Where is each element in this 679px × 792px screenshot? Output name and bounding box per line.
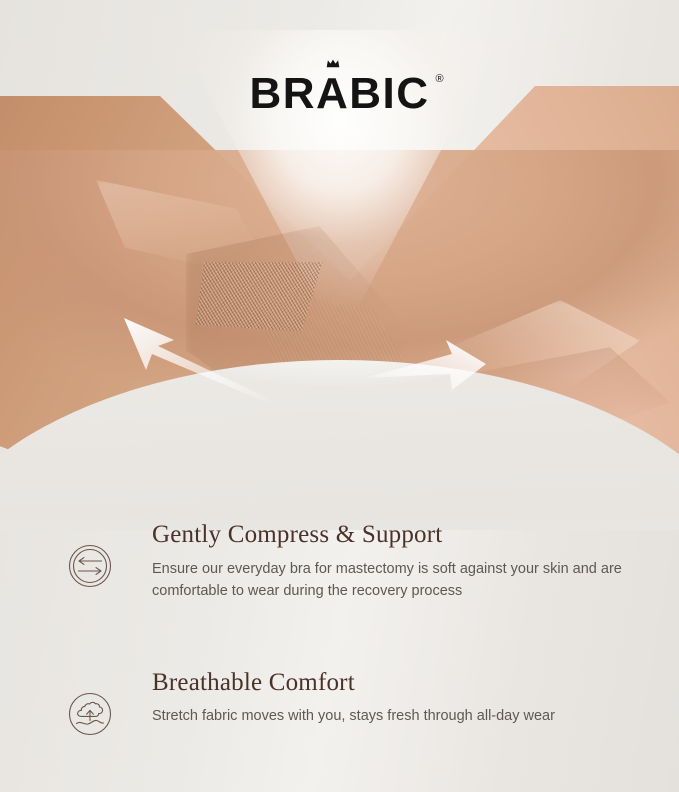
product-feature-image: BRA BIC® Gently Compress & Support Ensur… <box>0 0 679 792</box>
brand-name-after: BIC <box>349 69 429 118</box>
feature-item-compression: Gently Compress & Support Ensure our eve… <box>0 520 679 602</box>
feature-description-compression: Ensure our everyday bra for mastectomy i… <box>152 558 622 602</box>
brand-logo-text: BRA BIC® <box>249 72 429 116</box>
feature-text-breathable: Breathable Comfort Stretch fabric moves … <box>152 668 555 728</box>
brand-name-before: BR <box>249 69 316 118</box>
crown-diacritic-icon <box>325 59 340 68</box>
feature-title-breathable: Breathable Comfort <box>152 668 555 698</box>
feature-title-compression: Gently Compress & Support <box>152 520 622 550</box>
breathable-cloud-icon <box>66 690 114 738</box>
registered-trademark-icon: ® <box>435 74 443 85</box>
feature-item-breathable: Breathable Comfort Stretch fabric moves … <box>0 668 679 728</box>
brand-crown-letter-wrap: A <box>316 72 349 116</box>
brand-crown-letter: A <box>316 69 349 118</box>
feature-description-breathable: Stretch fabric moves with you, stays fre… <box>152 705 555 727</box>
feature-list: Gently Compress & Support Ensure our eve… <box>0 520 679 727</box>
compression-arrows-icon <box>66 542 114 590</box>
feature-text-compression: Gently Compress & Support Ensure our eve… <box>152 520 622 602</box>
brand-logo: BRA BIC® <box>0 72 679 116</box>
